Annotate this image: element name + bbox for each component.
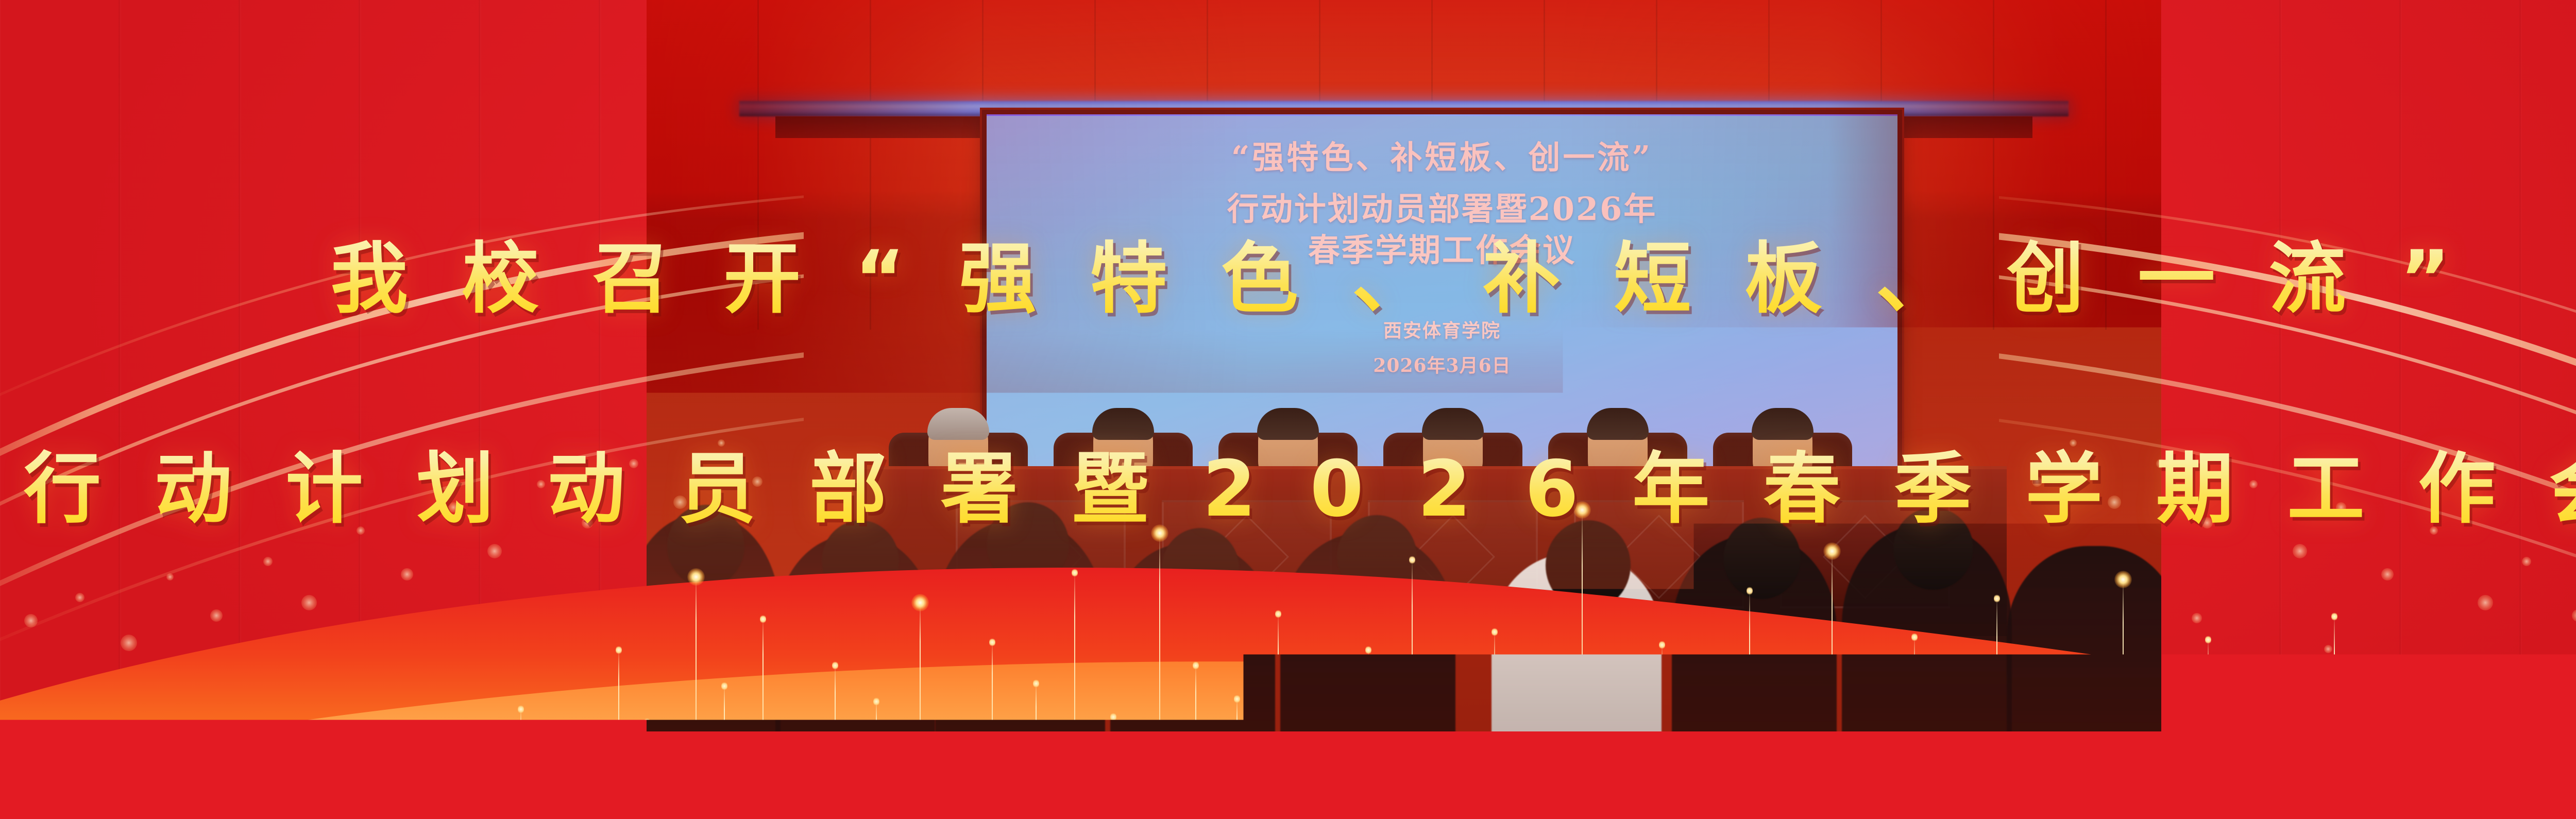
photo-red-tint <box>647 0 2161 731</box>
event-banner: “强特色、补短板、创一流” 行动计划动员部署暨2026年 春季学期工作会议 西安… <box>0 0 2576 819</box>
headline-line-2: 行 动 计 划 动 员 部 署 暨 2 0 2 6 年 春 季 学 期 工 作 … <box>0 426 2576 538</box>
headline-line-1: 我 校 召 开 “ 强 特 色 、 补 短 板 、 创 一 流 ” <box>0 216 2576 328</box>
